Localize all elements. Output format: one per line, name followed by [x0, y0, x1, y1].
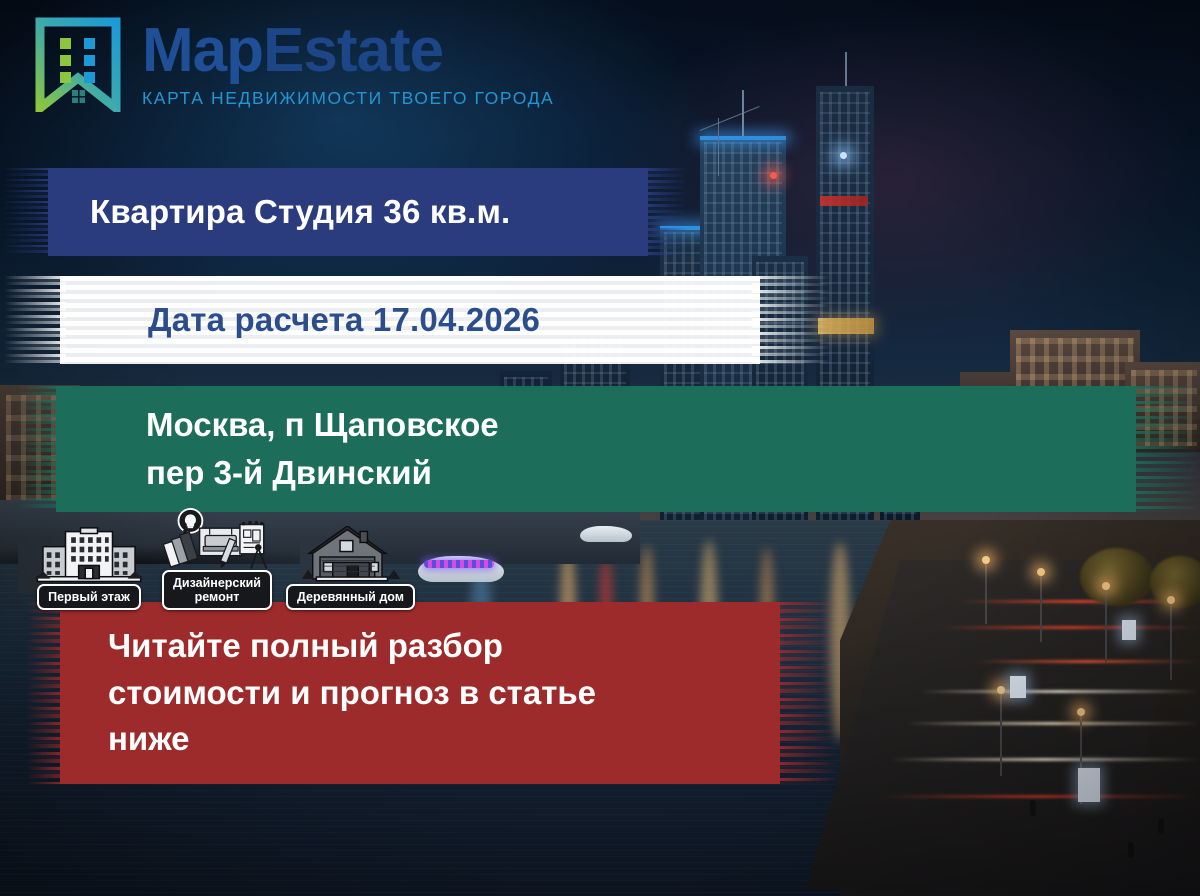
lit-billboard — [1122, 620, 1136, 640]
river-boat — [580, 526, 632, 542]
apartment-type-text: Квартира Студия 36 кв.м. — [48, 193, 648, 231]
street-lamp — [985, 560, 987, 624]
brush-edge-right — [752, 276, 830, 364]
apartment-building-icon — [30, 526, 148, 588]
street-tree — [1080, 548, 1154, 606]
badge-first-floor-label: Первый этаж — [37, 584, 141, 610]
cta-line-2: стоимости и прогноз в статье — [108, 674, 596, 711]
brush-edge-right — [1130, 386, 1200, 512]
pedestrian — [1158, 818, 1164, 834]
street-lamp — [1040, 572, 1042, 642]
apartment-type-banner: Квартира Студия 36 кв.м. — [48, 168, 648, 256]
street-lamp — [1170, 600, 1172, 680]
cta-banner: Читайте полный разбор стоимости и прогно… — [60, 602, 780, 784]
brush-edge-right — [774, 602, 838, 784]
tower-mast — [845, 52, 847, 86]
bookmark-building-icon — [32, 16, 124, 112]
traffic-light-trail — [940, 626, 1200, 629]
badge-wooden-house-label: Деревянный дом — [286, 584, 415, 610]
construction-crane — [718, 118, 719, 176]
calculation-date-banner: Дата расчета 17.04.2026 — [60, 276, 760, 364]
street-lamp — [1105, 586, 1107, 662]
address-banner: Москва, п Щаповское пер 3-й Двинский — [56, 386, 1136, 512]
traffic-light-trail — [880, 795, 1200, 798]
tower-beacon-light — [770, 172, 777, 179]
calculation-date-text: Дата расчета 17.04.2026 — [60, 301, 760, 339]
brand-name-part1: Map — [142, 16, 263, 85]
badge-designer-renovation[interactable]: Дизайнерский ремонт — [156, 512, 278, 610]
brand-tagline: КАРТА НЕДВИЖИМОСТИ ТВОЕГО ГОРОДА — [142, 88, 554, 109]
address-text: Москва, п Щаповское пер 3-й Двинский — [56, 401, 1136, 497]
design-renovation-icon — [156, 512, 278, 574]
brand-name-part2: Estate — [263, 16, 443, 85]
wooden-house-icon — [291, 526, 411, 588]
brand-name: MapEstate — [142, 20, 554, 82]
cta-line-3: ниже — [108, 720, 190, 757]
brush-edge-left — [2, 168, 52, 256]
traffic-light-trail — [890, 758, 1200, 761]
lit-billboard — [1010, 676, 1026, 698]
cta-line-1: Читайте полный разбор — [108, 627, 503, 664]
river-boat — [418, 556, 504, 582]
tower-mast — [742, 90, 744, 136]
brush-edge-left — [4, 276, 66, 364]
property-promo-poster: MapEstate КАРТА НЕДВИЖИМОСТИ ТВОЕГО ГОРО… — [0, 0, 1200, 896]
traffic-light-trail — [975, 660, 1200, 663]
traffic-light-trail — [920, 690, 1200, 693]
tower-red-sign — [820, 196, 868, 206]
traffic-light-trail — [905, 722, 1200, 725]
badge-first-floor[interactable]: Первый этаж — [30, 526, 148, 610]
address-line-1: Москва, п Щаповское — [146, 406, 499, 443]
address-line-2: пер 3-й Двинский — [146, 454, 432, 491]
badge-designer-renovation-label: Дизайнерский ремонт — [162, 570, 272, 610]
pedestrian — [1128, 842, 1134, 858]
lit-billboard — [1078, 768, 1100, 802]
badge-wooden-house[interactable]: Деревянный дом — [286, 526, 415, 610]
feature-badges: Первый этаж — [30, 512, 415, 610]
brand-header: MapEstate КАРТА НЕДВИЖИМОСТИ ТВОЕГО ГОРО… — [32, 16, 554, 112]
cta-text: Читайте полный разбор стоимости и прогно… — [60, 623, 780, 764]
street-lamp — [1000, 690, 1002, 776]
pedestrian — [1030, 800, 1036, 816]
brush-edge-right — [644, 168, 688, 256]
tower-beacon-light — [840, 152, 847, 159]
